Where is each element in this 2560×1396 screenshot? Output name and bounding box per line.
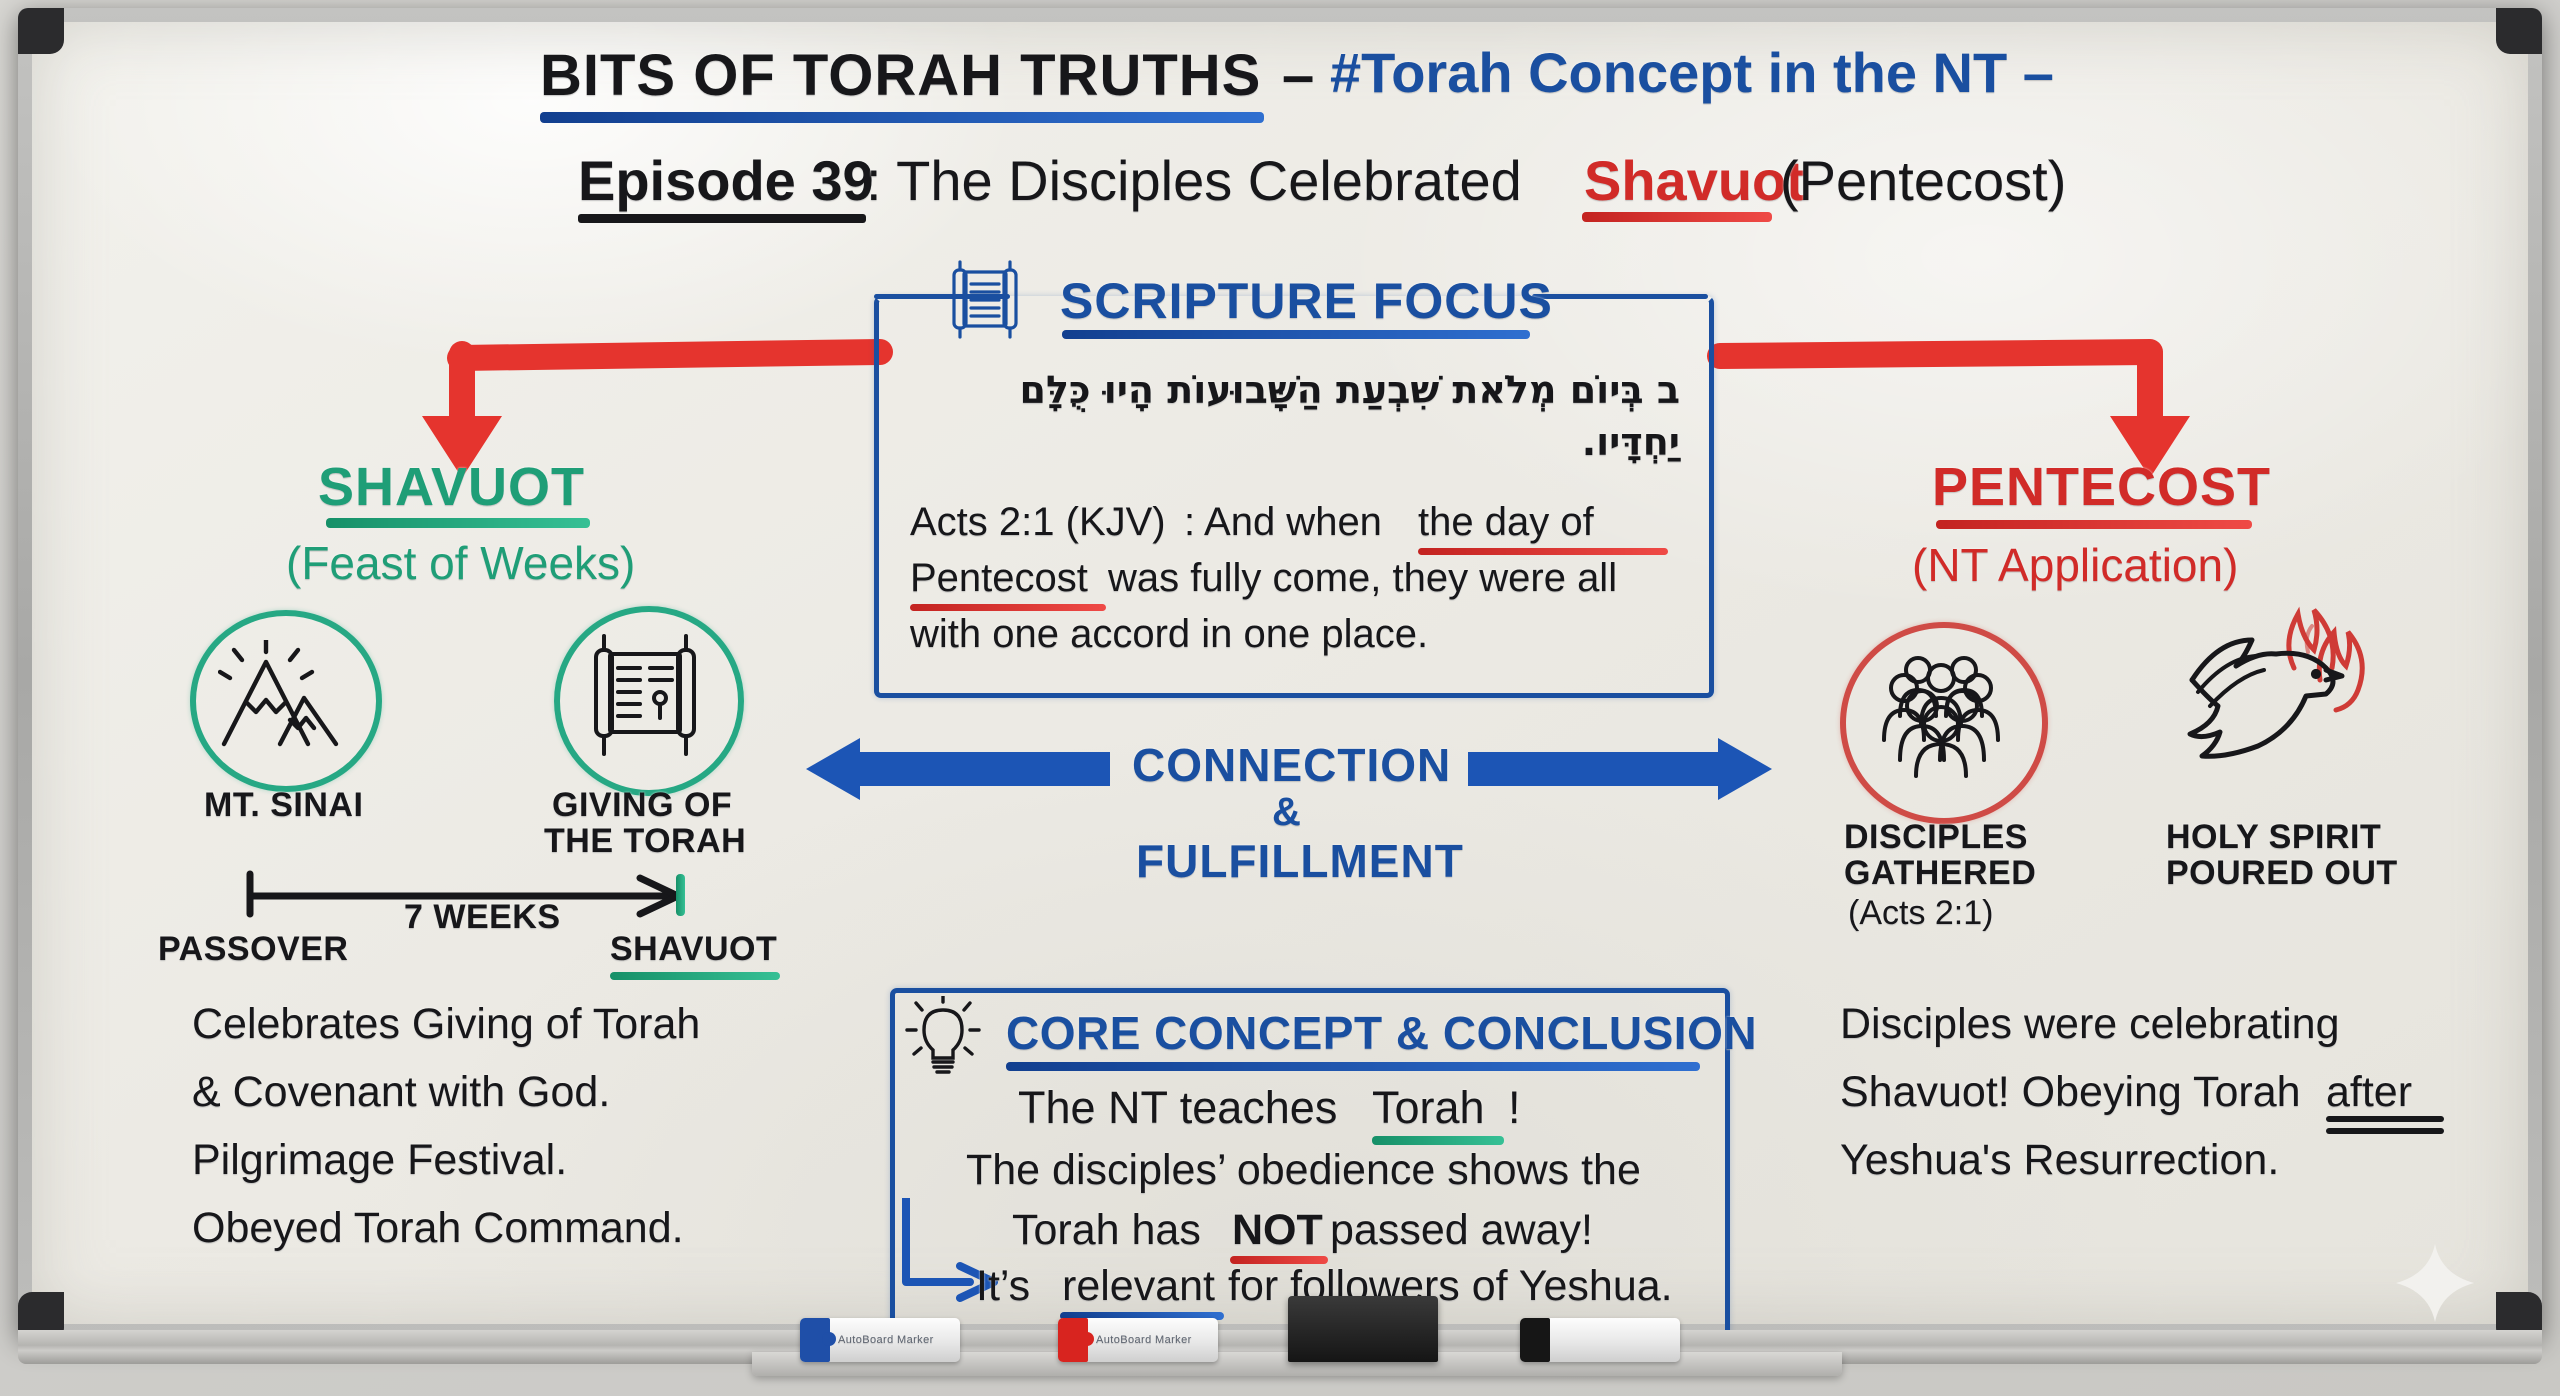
title-pentecost-paren: (Pentecost) bbox=[1780, 148, 2066, 213]
connection-line1: CONNECTION bbox=[1132, 738, 1451, 792]
scripture-hebrew-line-1: ב בְּיוֹם מְלֹאת שִׁבְעַת הַשָּׁבוּעוֹת … bbox=[900, 368, 1680, 412]
core-concept-heading: CORE CONCEPT & CONCLUSION bbox=[1006, 1006, 1757, 1060]
scripture-verse-line1-a: : And when bbox=[1184, 500, 1382, 545]
blue-marker-label: AutoBoard Marker bbox=[838, 1334, 934, 1346]
pentecost-subtitle: (NT Application) bbox=[1912, 538, 2238, 592]
mountain-icon bbox=[218, 640, 344, 754]
shavuot-body-line1: Celebrates Giving of Torah bbox=[192, 1000, 700, 1049]
scripture-verse-line1-underlined: the day of bbox=[1418, 500, 1594, 545]
giving-torah-label-line1: GIVING OF bbox=[552, 786, 732, 825]
blue-marker-logo-icon bbox=[822, 1332, 836, 1346]
whiteboard-screenshot: BITS OF TORAH TRUTHS – #Torah Concept in… bbox=[0, 0, 2560, 1396]
core-concept-line3-a: Torah has bbox=[1012, 1206, 1201, 1255]
timeline-label-passover: PASSOVER bbox=[158, 930, 348, 969]
disciples-label-line3: (Acts 2:1) bbox=[1848, 894, 1993, 933]
core-concept-torah-underline bbox=[1372, 1136, 1504, 1145]
holy-spirit-label-line2: POURED OUT bbox=[2166, 854, 2398, 893]
core-concept-line1-b: ! bbox=[1508, 1082, 1521, 1134]
core-concept-line4-a: It’s bbox=[976, 1262, 1030, 1311]
timeline-label-shavuot: SHAVUOT bbox=[610, 930, 777, 969]
holy-spirit-label-line1: HOLY SPIRIT bbox=[2166, 818, 2381, 857]
shavuot-title: SHAVUOT bbox=[318, 456, 585, 518]
sparkle-watermark-icon bbox=[2396, 1244, 2474, 1322]
black-marker[interactable] bbox=[1520, 1318, 1680, 1362]
pentecost-after-underline-1 bbox=[2326, 1116, 2444, 1122]
scripture-verse-line3: with one accord in one place. bbox=[910, 612, 1428, 657]
red-marker-label: AutoBoard Marker bbox=[1096, 1334, 1192, 1346]
title-episode-underline bbox=[578, 214, 866, 223]
title-episode: Episode 39 bbox=[578, 148, 874, 213]
arrow-blue-left bbox=[800, 738, 1110, 808]
connection-line2: & bbox=[1272, 790, 1301, 835]
title-dash: – bbox=[1282, 42, 1314, 109]
arrow-blue-right bbox=[1468, 738, 1778, 808]
pentecost-body-line3: Yeshua's Resurrection. bbox=[1840, 1136, 2279, 1185]
pentecost-body-line1: Disciples were celebrating bbox=[1840, 1000, 2340, 1049]
connection-line3: FULFILLMENT bbox=[1136, 834, 1464, 888]
title-hashtag-blue: #Torah Concept in the NT – bbox=[1330, 40, 2054, 105]
shavuot-body-line3: Pilgrimage Festival. bbox=[192, 1136, 567, 1185]
pentecost-body-line2-underlined: after bbox=[2326, 1068, 2412, 1117]
pentecost-body-line2-a: Shavuot! Obeying Torah bbox=[1840, 1068, 2301, 1117]
giving-torah-label-line2: THE TORAH bbox=[544, 822, 746, 861]
shavuot-subtitle: (Feast of Weeks) bbox=[286, 536, 635, 590]
lightbulb-icon bbox=[904, 996, 982, 1078]
core-concept-line3-underlined: NOT bbox=[1232, 1206, 1323, 1255]
disciples-label-line2: GATHERED bbox=[1844, 854, 2036, 893]
group-of-people-icon bbox=[1868, 654, 2014, 780]
pentecost-after-underline-2 bbox=[2326, 1128, 2444, 1134]
title-episode-subject: : The Disciples Celebrated bbox=[866, 148, 1522, 213]
core-concept-line3-b: passed away! bbox=[1330, 1206, 1593, 1255]
frame-corner-top-right bbox=[2496, 8, 2542, 54]
scripture-focus-heading: SCRIPTURE FOCUS bbox=[1060, 272, 1553, 330]
title-shavuot-red: Shavuot bbox=[1584, 148, 1805, 213]
dove-with-flame-icon bbox=[2180, 606, 2380, 796]
timeline-shavuot-underline bbox=[610, 972, 780, 980]
disciples-label-line1: DISCIPLES bbox=[1844, 818, 2028, 857]
whiteboard-eraser[interactable] bbox=[1288, 1296, 1438, 1362]
scripture-verse-line2-underlined: Pentecost bbox=[910, 556, 1088, 601]
title-main-black: BITS OF TORAH TRUTHS bbox=[540, 42, 1261, 109]
torah-scroll-icon bbox=[946, 258, 1024, 342]
pentecost-title-underline bbox=[1936, 520, 2252, 529]
red-marker-logo-icon bbox=[1080, 1332, 1094, 1346]
mountain-icon-label: MT. SINAI bbox=[204, 786, 363, 825]
black-marker-cap bbox=[1520, 1318, 1550, 1362]
shavuot-body-line4: Obeyed Torah Command. bbox=[192, 1204, 684, 1253]
scripture-focus-box-top-right-edge bbox=[1532, 294, 1708, 299]
shavuot-title-underline bbox=[326, 518, 590, 528]
title-underline-blue bbox=[540, 112, 1264, 123]
frame-corner-top-left bbox=[18, 8, 64, 54]
core-concept-line4-underlined: relevant bbox=[1062, 1262, 1215, 1311]
scripture-verse-line2-b: was fully come, they were all bbox=[1108, 556, 1617, 601]
scripture-verse-ref: Acts 2:1 (KJV) bbox=[910, 500, 1166, 545]
core-concept-line2: The disciples’ obedience shows the bbox=[966, 1146, 1641, 1195]
scripture-verse-underline-1 bbox=[1418, 548, 1668, 555]
pentecost-title: PENTECOST bbox=[1932, 456, 2271, 518]
scripture-focus-heading-underline bbox=[1062, 330, 1530, 339]
timeline-shavuot-tick bbox=[676, 874, 685, 916]
scripture-hebrew-line-2: יַחְדָּיו. bbox=[900, 420, 1680, 464]
core-concept-line1-a: The NT teaches bbox=[1018, 1082, 1337, 1134]
title-shavuot-underline bbox=[1582, 212, 1772, 222]
core-concept-heading-underline bbox=[1006, 1062, 1700, 1071]
core-concept-line1-underlined: Torah bbox=[1372, 1082, 1485, 1134]
giving-of-torah-scroll-icon bbox=[582, 628, 708, 762]
scripture-verse-underline-2 bbox=[910, 604, 1106, 611]
shavuot-body-line2: & Covenant with God. bbox=[192, 1068, 610, 1117]
timeline-label-7weeks: 7 WEEKS bbox=[404, 898, 561, 937]
